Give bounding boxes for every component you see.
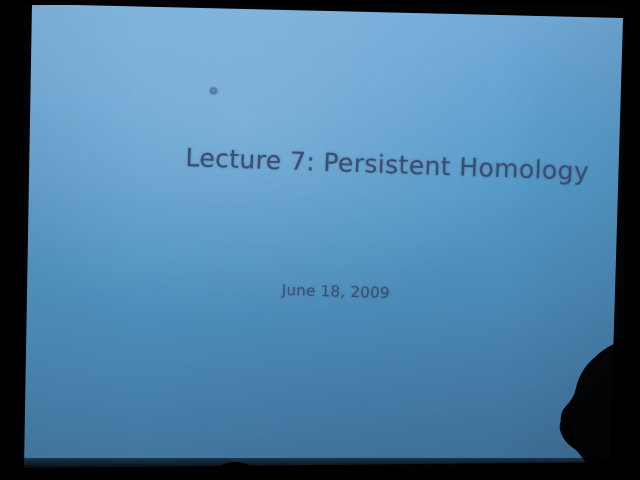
photo-frame-right — [624, 0, 640, 480]
photo-frame-top — [0, 0, 640, 5]
projector-spot-mark-icon — [209, 87, 218, 95]
lecture-room-scene: Lecture 7: Persistent Homology June 18, … — [0, 0, 640, 480]
photo-frame-left — [0, 0, 24, 480]
dark-floor-region — [0, 458, 640, 480]
slide-date: June 18, 2009 — [281, 281, 390, 302]
